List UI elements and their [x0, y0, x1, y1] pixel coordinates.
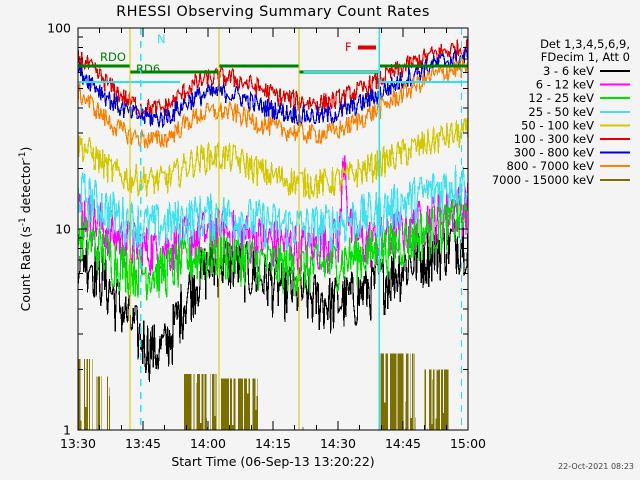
noise-gap	[432, 308, 433, 379]
noise-gap	[303, 291, 304, 430]
noise-gap	[260, 321, 261, 411]
y-tick-label: 10	[55, 222, 71, 237]
x-tick-label: 13:45	[125, 436, 161, 451]
night-marker-label: N	[157, 32, 166, 46]
noise-gap	[415, 303, 416, 431]
x-tick-label: 14:00	[190, 436, 226, 451]
x-tick-label: 14:30	[320, 436, 356, 451]
noise-gap	[427, 352, 428, 423]
noise-gap	[214, 326, 215, 416]
x-tick-label: 14:45	[385, 436, 421, 451]
noise-gap	[411, 313, 412, 418]
noise-gap	[413, 319, 414, 435]
legend-detector-line-1: Det 1,3,4,5,6,9,	[540, 37, 630, 51]
legend-label-2: 12 - 25 keV	[528, 91, 594, 105]
legend-detector-line-2: FDecim 1, Att 0	[541, 50, 630, 64]
legend-label-3: 25 - 50 keV	[528, 105, 594, 119]
noise-gap	[96, 351, 97, 430]
chart-window: { "header": { "title": "RHESSI Observing…	[0, 0, 640, 480]
noise-gap	[108, 323, 109, 388]
legend-label-4: 50 - 100 keV	[521, 118, 594, 132]
noise-gap	[209, 371, 210, 440]
night-bar-2	[379, 81, 468, 83]
noise-gap	[104, 339, 105, 434]
x-tick-label: 15:00	[450, 436, 486, 451]
legend-label-0: 3 - 6 keV	[543, 64, 594, 78]
noise-gap	[207, 325, 208, 427]
noise-gap	[83, 327, 84, 439]
y-tick-label: 100	[47, 21, 71, 36]
noise-gap	[437, 305, 438, 371]
legend-label-7: 800 - 7000 keV	[506, 159, 594, 173]
legend-label-6: 300 - 800 keV	[514, 146, 594, 160]
x-tick-label: 14:15	[255, 436, 291, 451]
noise-gap	[408, 299, 409, 436]
legend-label-8: 7000 - 15000 keV	[492, 173, 594, 187]
noise-gap	[85, 304, 86, 407]
noise-gap	[195, 337, 196, 430]
noise-gap	[449, 333, 450, 443]
noise-gap	[405, 299, 406, 401]
rdo-bar-5	[379, 64, 468, 67]
x-axis-label: Start Time (06-Sep-13 13:20:22)	[171, 454, 374, 469]
flare-marker-dash	[358, 46, 376, 50]
noise-gap	[247, 315, 248, 394]
noise-gap	[90, 343, 91, 429]
noise-gap	[192, 319, 193, 402]
noise-gap	[200, 335, 201, 423]
noise-gap	[435, 308, 436, 419]
noise-gap	[300, 303, 301, 427]
noise-gap	[440, 324, 441, 435]
noise-gap	[389, 349, 390, 441]
observing-summary-plot: RHESSI Observing Summary Count RatesNFRD…	[0, 0, 640, 480]
night-bar-1	[78, 81, 180, 83]
noise-gap	[450, 311, 451, 429]
x-tick-label: 13:30	[60, 436, 96, 451]
noise-gap	[232, 319, 233, 425]
legend-label-5: 100 - 300 keV	[514, 132, 594, 146]
noise-gap	[443, 317, 444, 413]
page-title: RHESSI Observing Summary Count Rates	[116, 4, 430, 20]
y-axis-label: Count Rate (s-1 detector-1)	[18, 147, 33, 312]
legend-label-1: 6 - 12 keV	[536, 78, 594, 92]
noise-gap	[93, 320, 94, 447]
rdo-bar-1	[78, 64, 130, 67]
noise-gap	[252, 331, 253, 431]
night-bar-3	[303, 71, 379, 73]
noise-block-6	[221, 379, 260, 430]
flare-marker-label: F	[345, 40, 352, 54]
rd6-label: RD6	[136, 62, 160, 76]
noise-gap	[132, 327, 133, 395]
footer-timestamp: 22-Oct-2021 08:23	[558, 462, 634, 471]
rdo-label: RDO	[100, 50, 126, 64]
rdo-bar-3	[219, 64, 299, 67]
noise-gap	[256, 320, 257, 396]
